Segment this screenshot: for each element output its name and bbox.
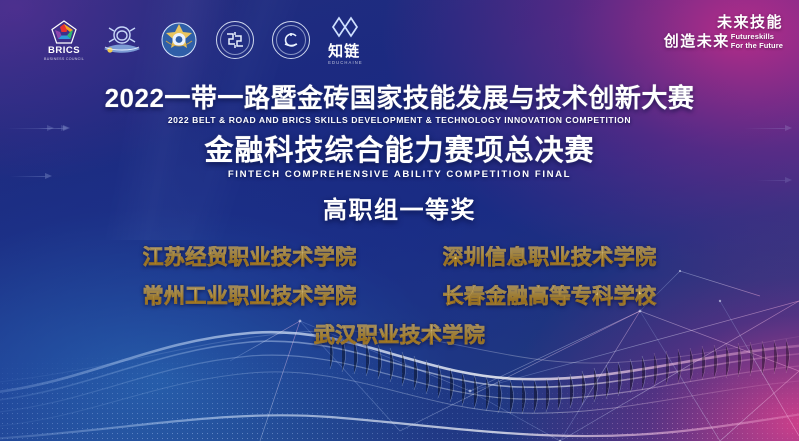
educhaine-logo: 知链 EDUCHAINE <box>328 15 363 66</box>
winner-row: 江苏经贸职业技术学院 深圳信息职业技术学院 <box>0 236 799 275</box>
educhaine-en-label: EDUCHAINE <box>328 61 363 65</box>
competition-title-en: 2022 BELT & ROAD AND BRICS SKILLS DEVELO… <box>0 115 799 125</box>
skills-china-icon <box>102 23 142 57</box>
award-slide: BRICS BUSINESS COUNCIL <box>0 0 799 441</box>
university-seal-logo <box>272 21 310 59</box>
slogan-en-line-2: For the Future <box>731 42 783 51</box>
award-category-heading: 高职组一等奖 <box>0 190 799 225</box>
arrow-decoration <box>38 128 52 129</box>
national-emblem-icon <box>160 21 198 59</box>
winner-name: 深圳信息职业技术学院 <box>443 246 657 269</box>
slogan-english: Futureskills For the Future <box>731 33 783 51</box>
institute-seal-logo <box>216 21 254 59</box>
brics-logo: BRICS BUSINESS COUNCIL <box>44 20 84 61</box>
educhaine-cn-label: 知链 <box>328 44 363 59</box>
brics-pentagon-icon <box>51 20 77 44</box>
slogan-line-1: 未来技能 <box>664 14 783 33</box>
arrow-decoration <box>744 128 790 129</box>
winner-row: 武汉职业技术学院 <box>0 314 799 353</box>
event-subtitle: 金融科技综合能力赛项总决赛 FINTECH COMPREHENSIVE ABIL… <box>0 136 799 180</box>
winner-name: 常州工业职业技术学院 <box>143 285 357 308</box>
competition-title: 2022一带一路暨金砖国家技能发展与技术创新大赛 2022 BELT & ROA… <box>0 84 799 125</box>
winner-name: 江苏经贸职业技术学院 <box>143 246 357 269</box>
national-emblem-logo <box>160 21 198 59</box>
slogan-line-2: 创造未来 <box>664 33 730 52</box>
educhaine-chain-icon <box>330 15 360 39</box>
winner-list: 江苏经贸职业技术学院 深圳信息职业技术学院 常州工业职业技术学院 长春金融高等专… <box>0 236 799 353</box>
brics-logo-sublabel: BUSINESS COUNCIL <box>44 57 84 61</box>
skills-china-logo <box>102 23 142 57</box>
event-subtitle-en: FINTECH COMPREHENSIVE ABILITY COMPETITIO… <box>0 169 799 180</box>
competition-title-cn: 2022一带一路暨金砖国家技能发展与技术创新大赛 <box>0 84 799 112</box>
winner-name: 长春金融高等专科学校 <box>443 285 657 308</box>
university-seal-icon <box>279 28 303 52</box>
slogan-block: 未来技能 创造未来 Futureskills For the Future <box>664 14 783 52</box>
winner-row: 常州工业职业技术学院 长春金融高等专科学校 <box>0 275 799 314</box>
institute-seal-icon <box>223 28 247 52</box>
event-subtitle-cn: 金融科技综合能力赛项总决赛 <box>0 136 799 167</box>
winner-name: 武汉职业技术学院 <box>314 324 485 347</box>
sponsor-logo-strip: BRICS BUSINESS COUNCIL <box>44 16 363 64</box>
arrow-decoration <box>56 128 66 129</box>
brics-logo-label: BRICS <box>48 46 80 56</box>
